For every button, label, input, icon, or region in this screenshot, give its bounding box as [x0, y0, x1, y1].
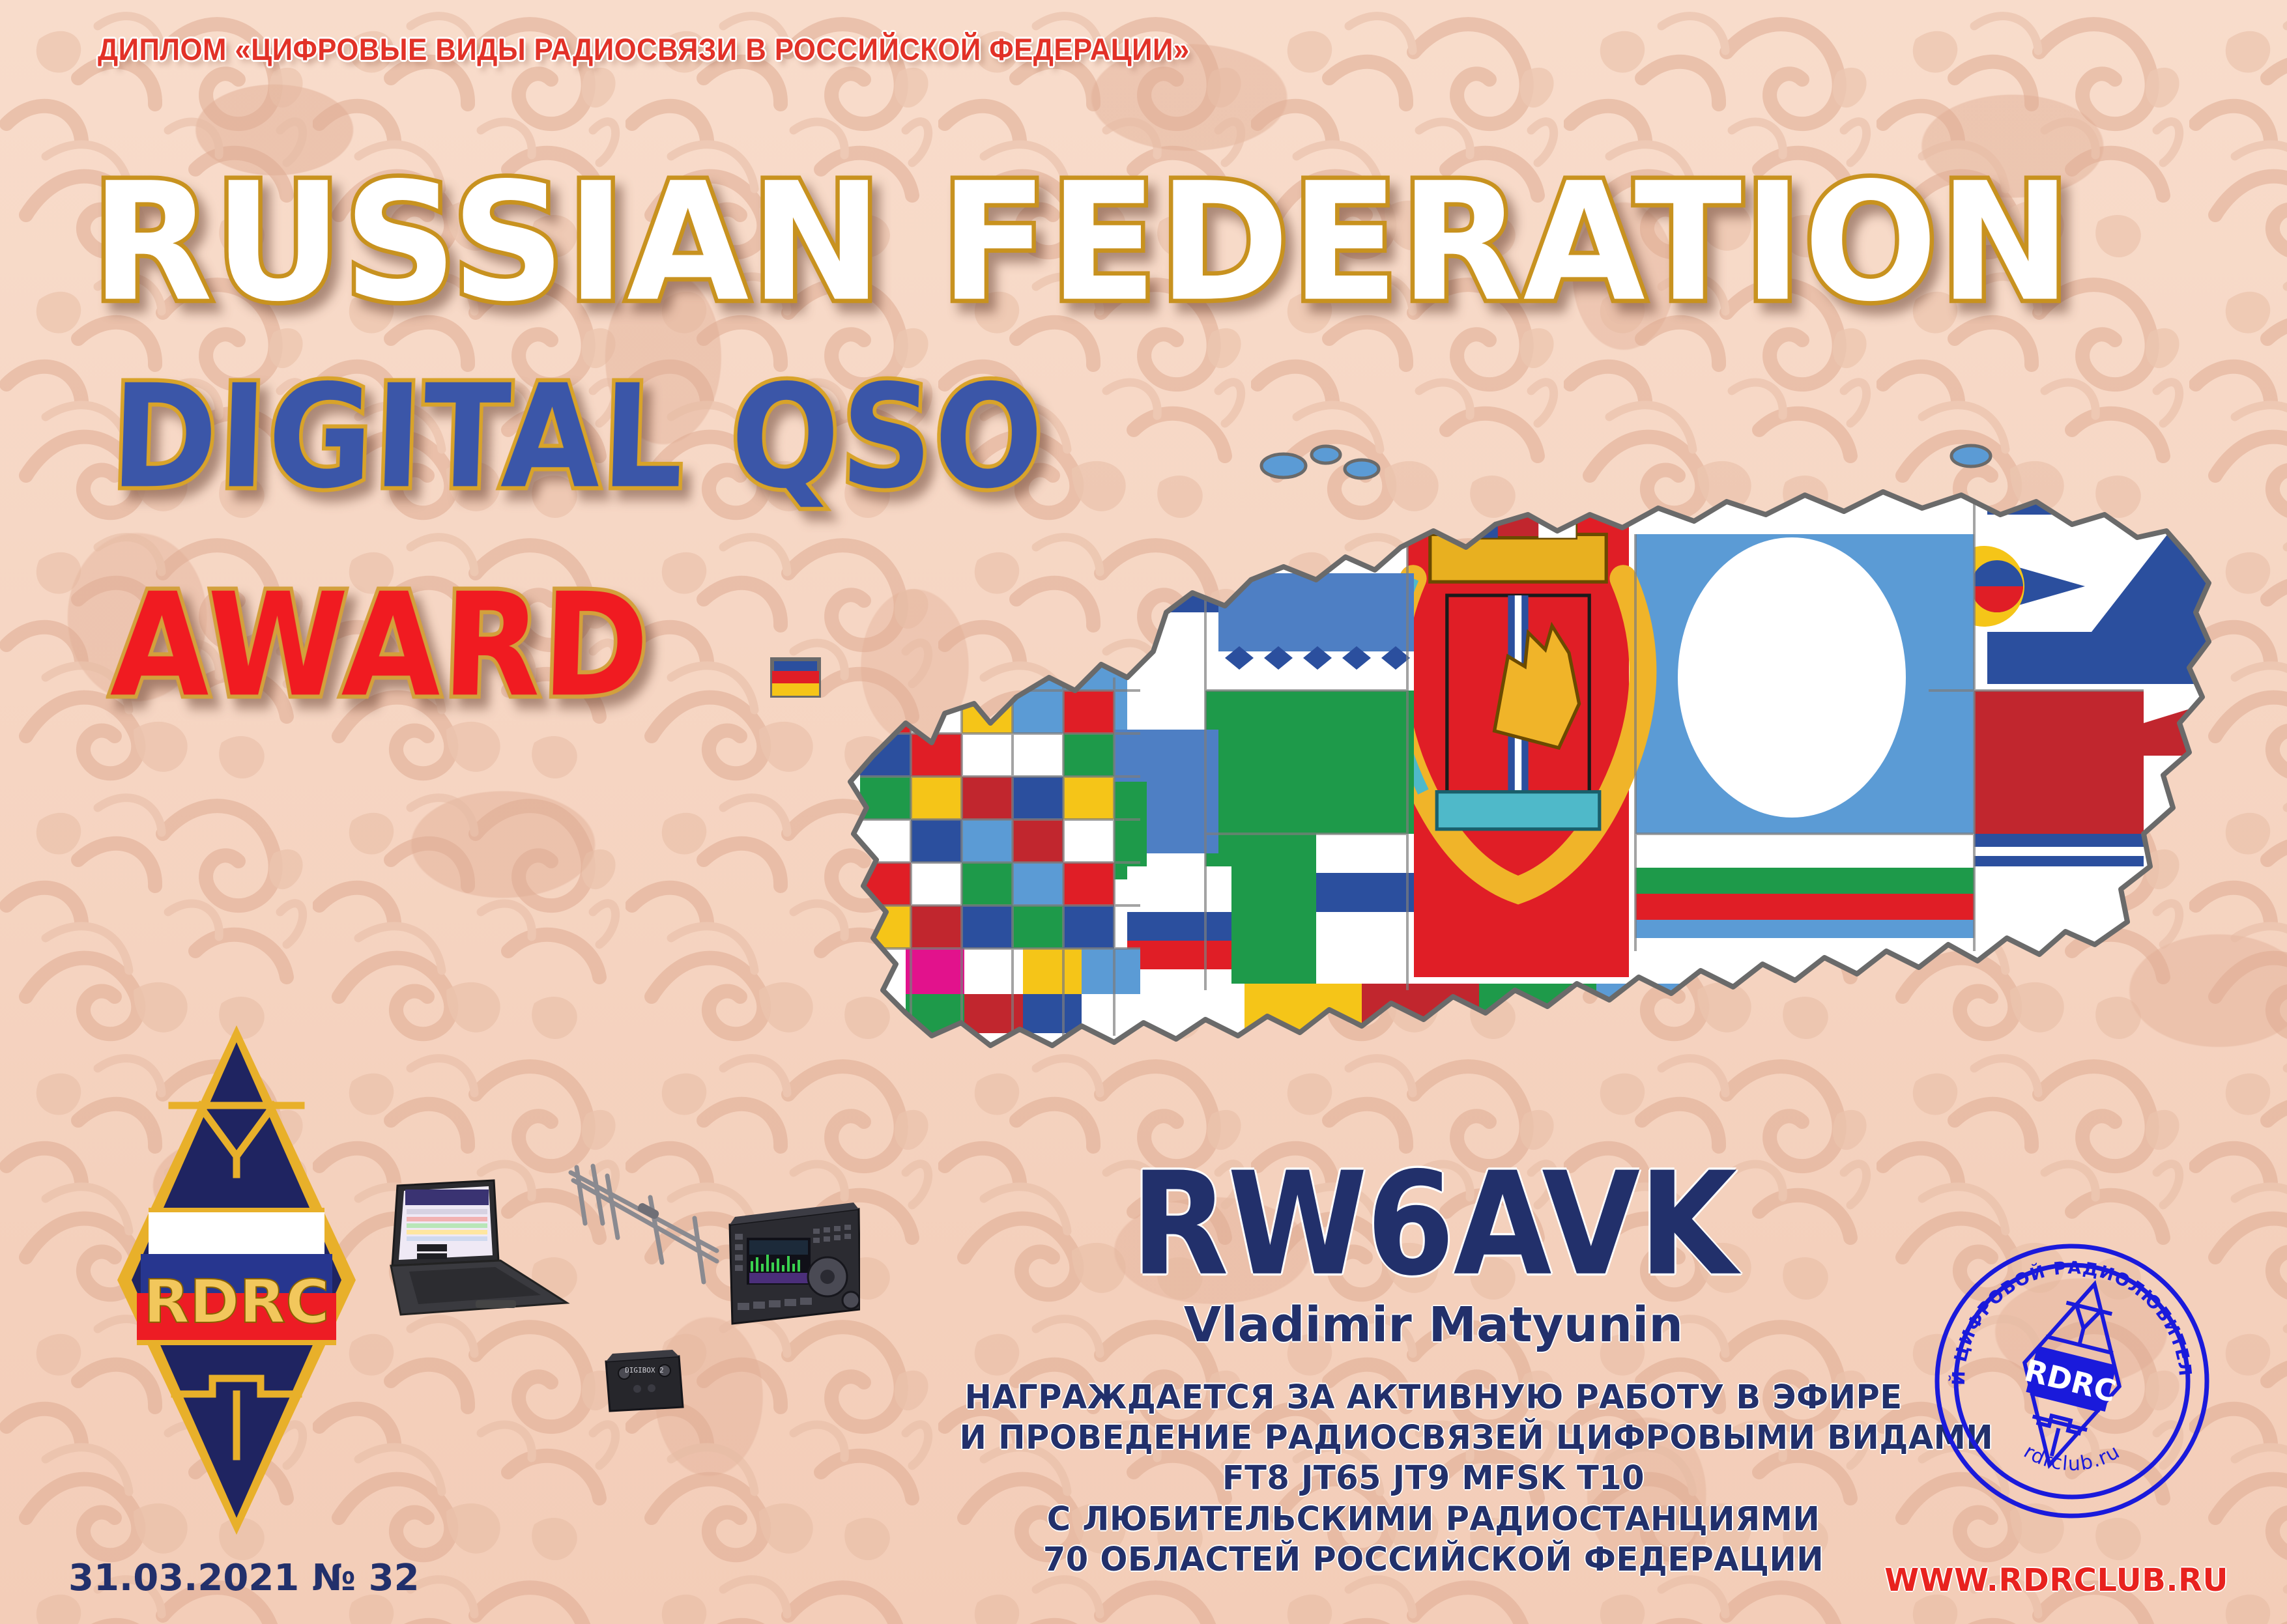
- digibox-interface-icon: DIGIBOX 2: [606, 1350, 683, 1411]
- yagi-antenna-icon: [571, 1166, 717, 1282]
- club-round-stamp: РОССИЙСКИЙ ЦИФРОВОЙ РАДИОЛЮБИТЕЛЬСКИЙ КЛ…: [1925, 1234, 2219, 1528]
- equipment-illustrations: DIGIBOX 2: [378, 1147, 860, 1414]
- citation-line-1: НАГРАЖДАЕТСЯ ЗА АКТИВНУЮ РАБОТУ В ЭФИРЕ: [960, 1378, 1908, 1418]
- russia-flag-map: [710, 417, 2274, 1186]
- certificate-date-number: 31.03.2021 № 32: [68, 1557, 420, 1599]
- title-line-award: AWARD: [109, 563, 653, 729]
- stamp-ring-text-lower: rdrclub.ru: [2020, 1440, 2125, 1476]
- citation-line-4: С ЛЮБИТЕЛЬСКИМИ РАДИОСТАНЦИЯМИ: [960, 1500, 1908, 1540]
- hf-transceiver-icon: [730, 1203, 860, 1324]
- citation-line-2: И ПРОВЕДЕНИЕ РАДИОСВЯЗЕЙ ЦИФРОВЫМИ ВИДАМ…: [960, 1418, 1908, 1459]
- rdrc-emblem-wordmark: RDRC: [143, 1267, 330, 1337]
- digibox-device-label: DIGIBOX 2: [625, 1366, 664, 1375]
- citation-line-regions: 70 ОБЛАСТЕЙ РОССИЙСКОЙ ФЕДЕРАЦИИ: [960, 1540, 1908, 1580]
- title-line-russian-federation: RUSSIAN FEDERATION: [91, 149, 2073, 337]
- citation-text: НАГРАЖДАЕТСЯ ЗА АКТИВНУЮ РАБОТУ В ЭФИРЕ …: [945, 1378, 1922, 1580]
- certificate-header-title: ДИПЛОМ «ЦИФРОВЫЕ ВИДЫ РАДИОСВЯЗИ В РОССИ…: [98, 31, 1190, 67]
- rdrc-diamond-emblem: RDRC: [109, 1016, 364, 1544]
- club-website-link[interactable]: WWW.RDRCLUB.RU: [1884, 1562, 2228, 1599]
- citation-line-modes: FT8 JT65 JT9 MFSK T10: [960, 1459, 1908, 1499]
- laptop-icon: [391, 1180, 567, 1315]
- recipient-callsign: RW6AVK: [945, 1153, 1922, 1295]
- award-certificate: ДИПЛОМ «ЦИФРОВЫЕ ВИДЫ РАДИОСВЯЗИ В РОССИ…: [0, 0, 2287, 1624]
- award-text-block: RW6AVK Vladimir Matyunin НАГРАЖДАЕТСЯ ЗА…: [945, 1153, 1922, 1580]
